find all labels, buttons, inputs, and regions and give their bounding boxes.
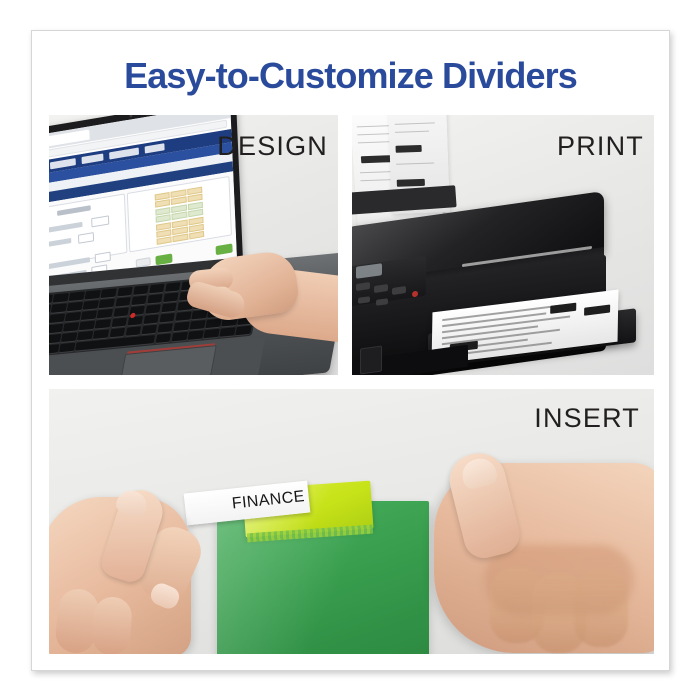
panel-label-insert: INSERT — [534, 403, 640, 434]
design-form-panel — [49, 193, 127, 267]
form-label — [49, 257, 90, 269]
label-cell — [189, 231, 204, 240]
form-label — [49, 222, 83, 233]
page-title: Easy-to-Customize Dividers — [32, 55, 669, 97]
label-cell — [173, 234, 188, 243]
webcam-icon — [129, 115, 132, 118]
panel-insert: FINANCE — [49, 389, 654, 654]
hand-on-trackpad — [183, 247, 338, 367]
form-heading — [57, 205, 91, 216]
form-input — [95, 252, 111, 264]
form-input — [91, 215, 109, 227]
right-hand — [414, 427, 654, 654]
form-label — [49, 238, 71, 247]
template-preview — [127, 176, 232, 253]
finger — [91, 596, 133, 654]
panel-print: PRINT — [352, 115, 654, 375]
panel-design: DESIGN — [49, 115, 338, 375]
white-card: Easy-to-Customize Dividers — [31, 30, 670, 671]
knuckles — [484, 545, 634, 615]
label-grid — [155, 187, 204, 242]
form-input — [78, 232, 94, 244]
panel-label-design: DESIGN — [217, 131, 328, 162]
product-infographic: Easy-to-Customize Dividers — [0, 0, 700, 700]
panel-label-print: PRINT — [557, 131, 644, 162]
label-cell — [157, 237, 172, 246]
printer-card-slot — [360, 345, 382, 374]
left-hand — [49, 457, 251, 654]
